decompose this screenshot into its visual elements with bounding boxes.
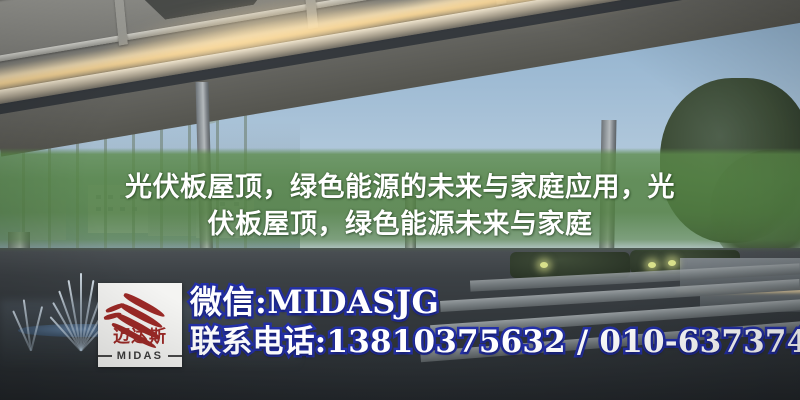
uplight xyxy=(668,260,676,266)
uplight xyxy=(540,262,548,268)
uplight xyxy=(648,262,656,268)
promo-banner: 光伏板屋顶，绿色能源的未来与家庭应用，光 伏板屋顶，绿色能源未来与家庭 迈达斯 … xyxy=(0,0,800,400)
phone-line: 联系电话:13810375632 / 010-63737472 xyxy=(190,322,800,362)
logo-name-cn: 迈达斯 xyxy=(98,322,182,347)
logo-rule-right xyxy=(168,355,182,357)
logo-name-en-row: MIDAS xyxy=(98,350,182,362)
banner-title-line1: 光伏板屋顶，绿色能源的未来与家庭应用，光 xyxy=(0,168,800,208)
logo-rule-left xyxy=(98,355,112,357)
logo-name-en: MIDAS xyxy=(117,350,163,362)
banner-title-line2: 伏板屋顶，绿色能源未来与家庭 xyxy=(0,205,800,245)
contact-block: 微信:MIDASJG 联系电话:13810375632 / 010-637374… xyxy=(190,282,800,362)
wechat-line: 微信:MIDASJG xyxy=(190,282,800,322)
midas-logo: 迈达斯 MIDAS xyxy=(98,283,182,367)
